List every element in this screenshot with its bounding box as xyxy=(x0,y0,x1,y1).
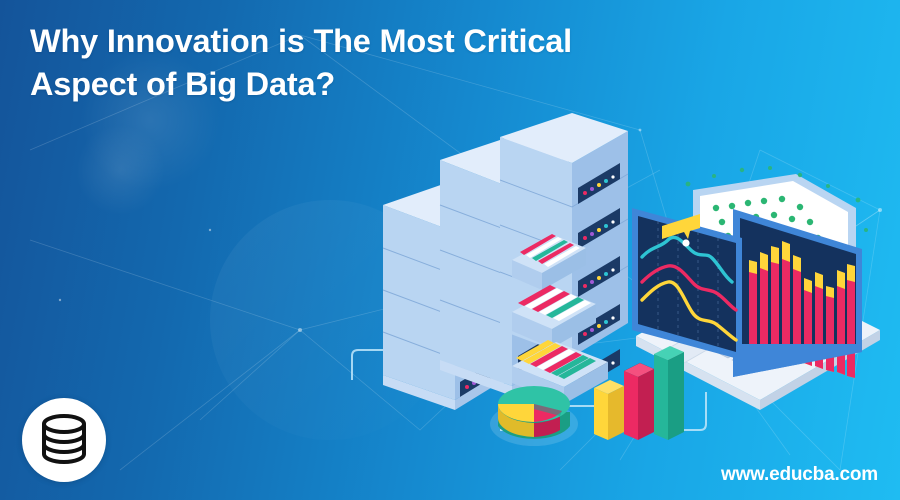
database-icon xyxy=(38,413,90,467)
brand-url[interactable]: www.educba.com xyxy=(721,464,878,486)
bar-yellow xyxy=(594,380,624,440)
pie-chart xyxy=(490,386,578,446)
bar-pink xyxy=(624,363,654,440)
logo-badge[interactable] xyxy=(22,398,106,482)
bar-teal xyxy=(654,346,684,440)
page-title: Why Innovation is The Most Critical Aspe… xyxy=(30,20,840,106)
banner: Why Innovation is The Most Critical Aspe… xyxy=(0,0,900,500)
